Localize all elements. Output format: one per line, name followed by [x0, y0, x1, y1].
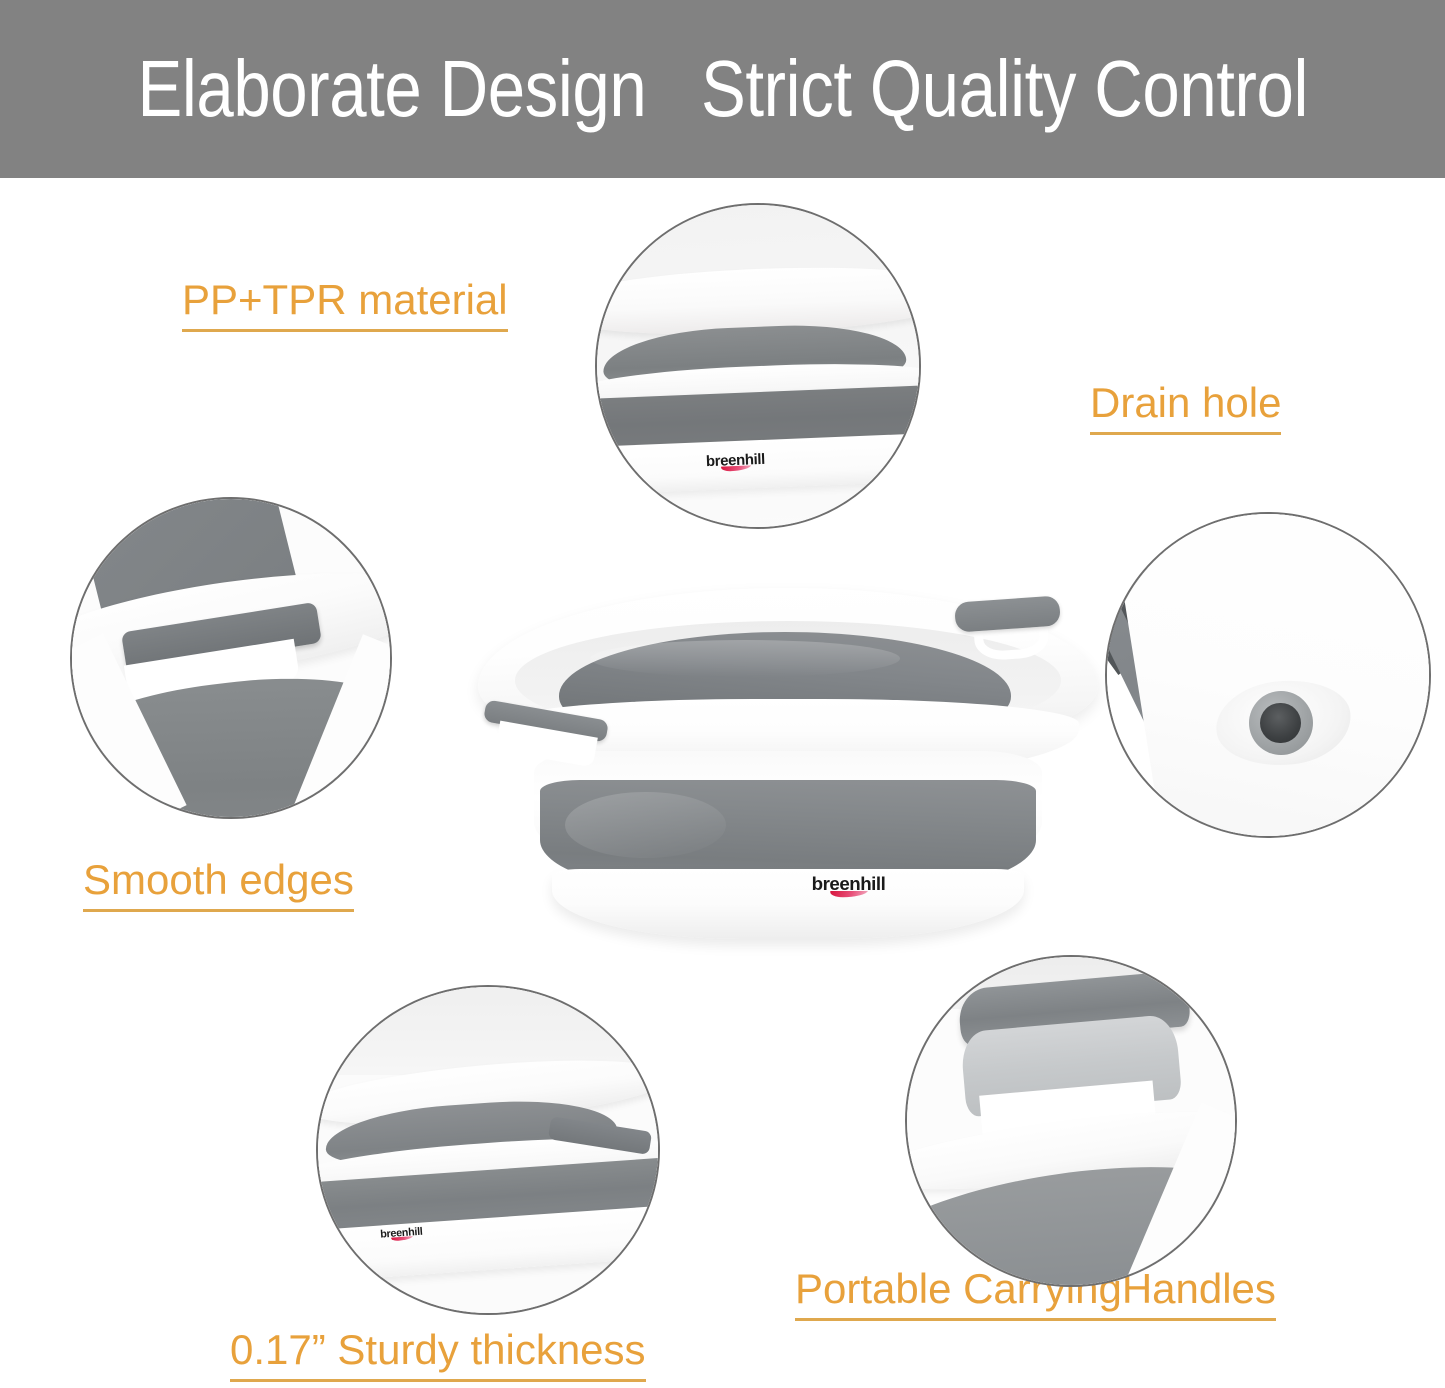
header-banner: Elaborate Design Strict Quality Control [0, 0, 1445, 178]
detail-circle-sturdy-thickness: breenhill [316, 985, 660, 1315]
detail-circle-carrying-handles [905, 955, 1237, 1287]
detail-circle-material: breenhill [595, 203, 921, 529]
handles-closeup-image [907, 957, 1235, 1285]
tpr-highlight [565, 792, 726, 859]
callout-label-smooth-edges: Smooth edges [83, 858, 354, 912]
page-title: Elaborate Design Strict Quality Control [137, 49, 1308, 129]
detail-circle-drain-hole [1105, 512, 1431, 838]
basin-highlight [590, 640, 900, 677]
basket-white-base [552, 869, 1023, 939]
drain-hole-opening-icon [1260, 703, 1300, 743]
material-closeup-image: breenhill [597, 205, 919, 527]
callout-label-sturdy-thickness: 0.17” Sturdy thickness [230, 1328, 646, 1382]
thickness-closeup-image: breenhill [318, 987, 658, 1313]
basket-white-base-surface [1110, 512, 1431, 838]
detail-circle-smooth-edges [70, 497, 392, 819]
smooth-edges-closeup-image [72, 499, 390, 817]
infographic-page: Elaborate Design Strict Quality Control … [0, 0, 1445, 1388]
callout-label-material: PP+TPR material [182, 278, 508, 332]
brand-logo-material: breenhill [706, 452, 766, 472]
brand-swoosh-icon [828, 891, 868, 897]
callout-label-drain-hole: Drain hole [1090, 381, 1281, 435]
product-photo: breenhill [478, 588, 1098, 958]
brand-logo-product: breenhill [812, 874, 886, 897]
drain-hole-closeup-image [1107, 514, 1429, 836]
